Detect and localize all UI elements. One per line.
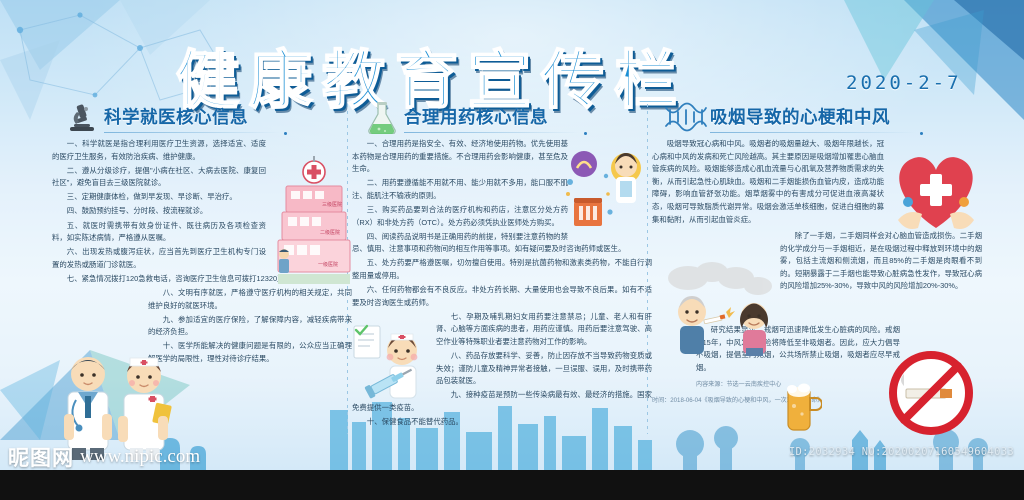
poster-header: 健康教育宣传栏 2020-2-7 xyxy=(0,14,1024,100)
section-header-2: 合理用药核心信息 xyxy=(352,100,652,134)
red-cross-emblem xyxy=(303,161,325,183)
doctor-figure-small xyxy=(279,249,289,273)
col2-para-10: 十、保健食品不能替代药品。 xyxy=(352,416,652,429)
female-pharmacist-figure xyxy=(615,153,637,203)
pill-bottles-group xyxy=(574,198,602,226)
watermark-logo: 昵图网 xyxy=(8,442,74,472)
no-smoking-sign-illustration xyxy=(888,350,974,436)
cigarette-object xyxy=(704,307,735,324)
dna-icon xyxy=(662,100,708,134)
beer-mug-illustration xyxy=(778,372,822,434)
section-dot-1 xyxy=(284,132,287,135)
section-header-3: 吸烟导致的心梗和中风 xyxy=(652,100,982,134)
section-title-1: 科学就医核心信息 xyxy=(104,104,248,129)
hospital-tiers-illustration: 三级医院 二级医院 一级医院 xyxy=(272,156,356,286)
col2-para-5: 五、处方药要严格遵医嘱，切勿擅自使用。特别是抗菌药物和激素类药物，不能自行调整用… xyxy=(352,257,652,282)
nurse-with-syringe-illustration xyxy=(350,320,436,412)
hospital-tier-label-3: 三级医院 xyxy=(322,201,342,208)
smoker-man-figure xyxy=(678,296,706,354)
section-underline-2 xyxy=(404,132,580,133)
poster-canvas: 健康教育宣传栏 2020-2-7 科学就医核心信息 xyxy=(0,0,1024,470)
site-watermark: 昵图网 www.nipic.com xyxy=(8,442,200,472)
column-smoking-heart-stroke: 吸烟导致的心梗和中风 吸烟导致冠心病和中风。吸烟者的吸烟量越大、吸烟年限越长，冠… xyxy=(652,100,982,440)
section-title-3: 吸烟导致的心梗和中风 xyxy=(710,104,890,129)
footer-bar: 昵图网 www.nipic.com ID:2032934 NO:20200207… xyxy=(0,470,1024,500)
nurse-figure-small xyxy=(387,334,418,398)
hospital-tier-label-2: 二级医院 xyxy=(320,229,340,236)
section-header-1: 科学就医核心信息 xyxy=(52,100,352,134)
secondhand-smoke-woman-figure xyxy=(740,303,768,356)
watermark-url: www.nipic.com xyxy=(80,446,200,468)
flask-icon xyxy=(362,100,402,134)
heart-hands-illustration xyxy=(884,140,988,234)
section-dot-2 xyxy=(584,132,587,135)
microscope-icon xyxy=(62,100,102,134)
section-dot-3 xyxy=(920,132,923,135)
section-title-2: 合理用药核心信息 xyxy=(404,104,548,129)
section-underline-1 xyxy=(104,132,280,133)
smoke-cloud xyxy=(668,262,772,295)
hospital-tier-label-1: 一级医院 xyxy=(318,261,338,268)
column-rational-drug-use: 合理用药核心信息 xyxy=(352,100,652,440)
column-scientific-medical-care: 科学就医核心信息 三级医院 二级医院 一级医院 xyxy=(52,100,352,440)
image-id-text: ID:2032934 NO:20200207160549604033 xyxy=(789,446,1014,458)
pharmacist-girl-illustration xyxy=(562,148,654,244)
poster-date: 2020-2-7 xyxy=(846,72,962,94)
col2-para-6: 六、任何药物都会有不良反应。非处方药长期、大量使用也会导致不良后果。如有不适要及… xyxy=(352,284,652,309)
section-underline-3 xyxy=(710,132,916,133)
secondhand-smoke-illustration xyxy=(658,260,790,356)
